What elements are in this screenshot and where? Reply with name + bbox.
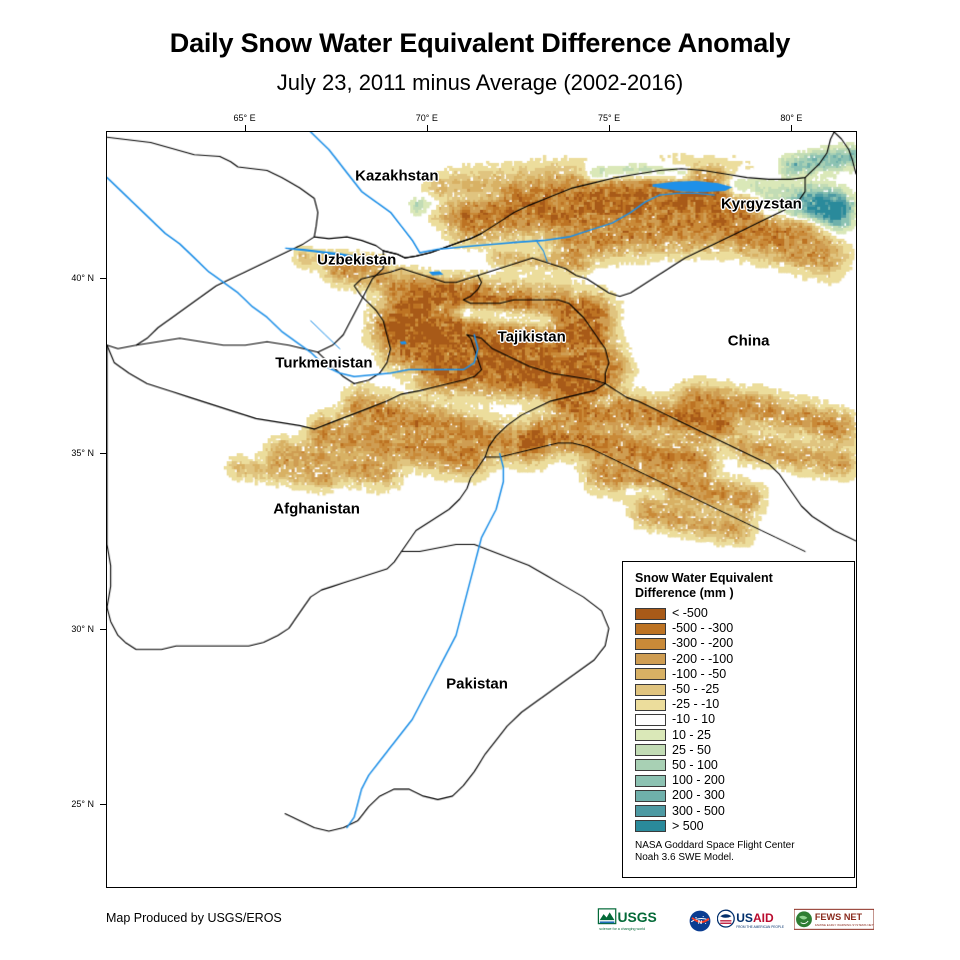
latitude-tick-label-3: 25° N — [71, 799, 94, 809]
legend-swatch — [635, 608, 666, 620]
legend-class-label: 300 - 500 — [672, 805, 725, 818]
svg-text:FEWS NET: FEWS NET — [815, 912, 863, 922]
legend-swatch — [635, 775, 666, 787]
legend-class-label: -10 - 10 — [672, 713, 715, 726]
legend-swatch — [635, 699, 666, 711]
legend-row: 25 - 50 — [635, 743, 844, 758]
legend-source-note: NASA Goddard Space Flight Center Noah 3.… — [635, 840, 844, 865]
legend-swatch — [635, 820, 666, 832]
usaid-logo: US AID FROM THE AMERICAN PEOPLE — [717, 908, 789, 934]
longitude-tick-label-1: 70° E — [416, 113, 438, 123]
page-title: Daily Snow Water Equivalent Difference A… — [0, 28, 960, 59]
legend-class-label: > 500 — [672, 820, 704, 833]
legend-row: -100 - -50 — [635, 667, 844, 682]
svg-text:science for a changing world: science for a changing world — [599, 927, 645, 931]
longitude-tick-label-0: 65° E — [233, 113, 255, 123]
latitude-tick-label-2: 30° N — [71, 624, 94, 634]
page-subtitle: July 23, 2011 minus Average (2002-2016) — [0, 70, 960, 96]
svg-text:USGS: USGS — [617, 909, 656, 925]
legend-swatch — [635, 759, 666, 771]
longitude-tick-0 — [245, 125, 246, 132]
legend-row: -25 - -10 — [635, 697, 844, 712]
longitude-tick-3 — [791, 125, 792, 132]
legend-swatch — [635, 790, 666, 802]
svg-text:US: US — [736, 911, 753, 925]
latitude-tick-3 — [100, 804, 107, 805]
svg-text:N: N — [698, 920, 702, 926]
legend-swatch — [635, 729, 666, 741]
legend-class-label: 10 - 25 — [672, 729, 711, 742]
nasa-logo: N — [688, 908, 712, 934]
footer-credit: Map Produced by USGS/EROS — [106, 911, 282, 925]
legend-swatch — [635, 668, 666, 680]
legend-class-label: -100 - -50 — [672, 668, 726, 681]
legend-title: Snow Water Equivalent Difference (mm ) — [635, 571, 844, 601]
legend-row: 100 - 200 — [635, 773, 844, 788]
legend-row: 10 - 25 — [635, 728, 844, 743]
legend-swatch — [635, 653, 666, 665]
longitude-tick-1 — [427, 125, 428, 132]
legend-swatch — [635, 714, 666, 726]
legend-row: 200 - 300 — [635, 788, 844, 803]
legend-class-label: 200 - 300 — [672, 789, 725, 802]
legend-row: -10 - 10 — [635, 712, 844, 727]
legend-class-label: -500 - -300 — [672, 622, 733, 635]
legend-class-label: 100 - 200 — [672, 774, 725, 787]
latitude-tick-0 — [100, 278, 107, 279]
longitude-tick-label-2: 75° E — [598, 113, 620, 123]
legend-class-label: -300 - -200 — [672, 637, 733, 650]
legend-row: 300 - 500 — [635, 803, 844, 818]
longitude-tick-label-3: 80° E — [780, 113, 802, 123]
legend-row: > 500 — [635, 819, 844, 834]
legend-panel: Snow Water Equivalent Difference (mm ) <… — [622, 561, 855, 878]
legend-row: 50 - 100 — [635, 758, 844, 773]
legend-swatch — [635, 638, 666, 650]
legend-class-label: 50 - 100 — [672, 759, 718, 772]
legend-class-label: -25 - -10 — [672, 698, 719, 711]
legend-class-list: < -500-500 - -300-300 - -200-200 - -100-… — [635, 606, 844, 834]
legend-row: < -500 — [635, 606, 844, 621]
map-page: Daily Snow Water Equivalent Difference A… — [0, 0, 960, 960]
latitude-tick-1 — [100, 453, 107, 454]
legend-swatch — [635, 623, 666, 635]
longitude-tick-2 — [609, 125, 610, 132]
legend-class-label: 25 - 50 — [672, 744, 711, 757]
legend-row: -300 - -200 — [635, 636, 844, 651]
agency-logo-strip: USGS science for a changing world N US A… — [597, 908, 874, 934]
latitude-tick-label-1: 35° N — [71, 448, 94, 458]
fewsnet-logo: FEWS NET FAMINE EARLY WARNING SYSTEMS NE… — [794, 908, 874, 934]
usgs-logo: USGS science for a changing world — [597, 908, 683, 934]
legend-swatch — [635, 684, 666, 696]
latitude-tick-2 — [100, 629, 107, 630]
svg-text:FAMINE EARLY WARNING SYSTEMS N: FAMINE EARLY WARNING SYSTEMS NETWORK — [815, 923, 874, 927]
legend-row: -500 - -300 — [635, 621, 844, 636]
legend-class-label: -50 - -25 — [672, 683, 719, 696]
svg-text:AID: AID — [753, 911, 774, 925]
legend-class-label: < -500 — [672, 607, 708, 620]
legend-swatch — [635, 744, 666, 756]
latitude-tick-label-0: 40° N — [71, 273, 94, 283]
legend-row: -50 - -25 — [635, 682, 844, 697]
legend-class-label: -200 - -100 — [672, 653, 733, 666]
legend-row: -200 - -100 — [635, 652, 844, 667]
svg-text:FROM THE AMERICAN PEOPLE: FROM THE AMERICAN PEOPLE — [736, 925, 784, 929]
legend-swatch — [635, 805, 666, 817]
